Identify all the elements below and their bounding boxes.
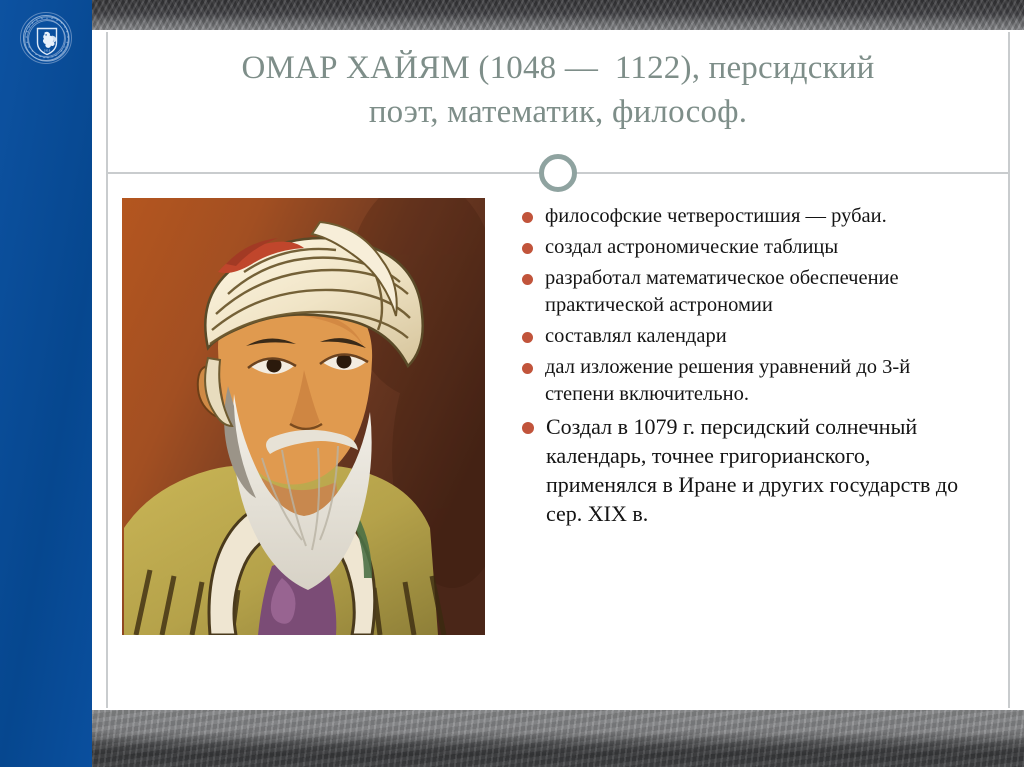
list-item-text: философские четверостишия — рубаи. [545, 203, 887, 230]
list-item-text: Создал в 1079 г. персидский солнечный ка… [546, 412, 976, 528]
list-item: дал изложение решения уравнений до 3-й с… [522, 354, 1002, 408]
bullet-marker-icon [522, 274, 533, 285]
title-line-1: ОМАР ХАЙЯМ (1048 — 1122), персидский [112, 46, 1004, 90]
list-item-text: составлял календари [545, 323, 727, 350]
list-item-text: создал астрономические таблицы [545, 234, 838, 261]
top-texture-band [92, 0, 1024, 30]
portrait-illustration [122, 198, 485, 635]
bottom-texture-band [92, 710, 1024, 767]
slide-canvas: 1919 ОМАР ХАЙЯМ (1048 — 1122), персидски… [0, 0, 1024, 767]
university-seal-logo: 1919 [20, 12, 72, 64]
bullet-marker-icon [522, 363, 533, 374]
list-item: создал астрономические таблицы [522, 234, 1002, 261]
bullet-marker-icon [522, 332, 533, 343]
seal-crest-icon: 1919 [21, 13, 73, 65]
list-item: составлял календари [522, 323, 1002, 350]
list-item-text: разработал математическое обеспечение пр… [545, 265, 975, 319]
svg-text:1919: 1919 [44, 48, 51, 52]
list-item-text: дал изложение решения уравнений до 3-й с… [545, 354, 975, 408]
portrait-image [122, 198, 485, 635]
left-blue-rail: 1919 [0, 0, 92, 767]
bullet-marker-icon [522, 422, 534, 434]
ring-ornament-icon [539, 154, 577, 192]
list-item: Создал в 1079 г. персидский солнечный ка… [522, 412, 1002, 528]
bullet-marker-icon [522, 212, 533, 223]
list-item: философские четверостишия — рубаи. [522, 203, 1002, 230]
title-line-2: поэт, математик, философ. [112, 90, 1004, 134]
list-item: разработал математическое обеспечение пр… [522, 265, 1002, 319]
page-title: ОМАР ХАЙЯМ (1048 — 1122), персидский поэ… [112, 46, 1004, 134]
bullet-list: философские четверостишия — рубаи. созда… [522, 203, 1002, 532]
bullet-marker-icon [522, 243, 533, 254]
